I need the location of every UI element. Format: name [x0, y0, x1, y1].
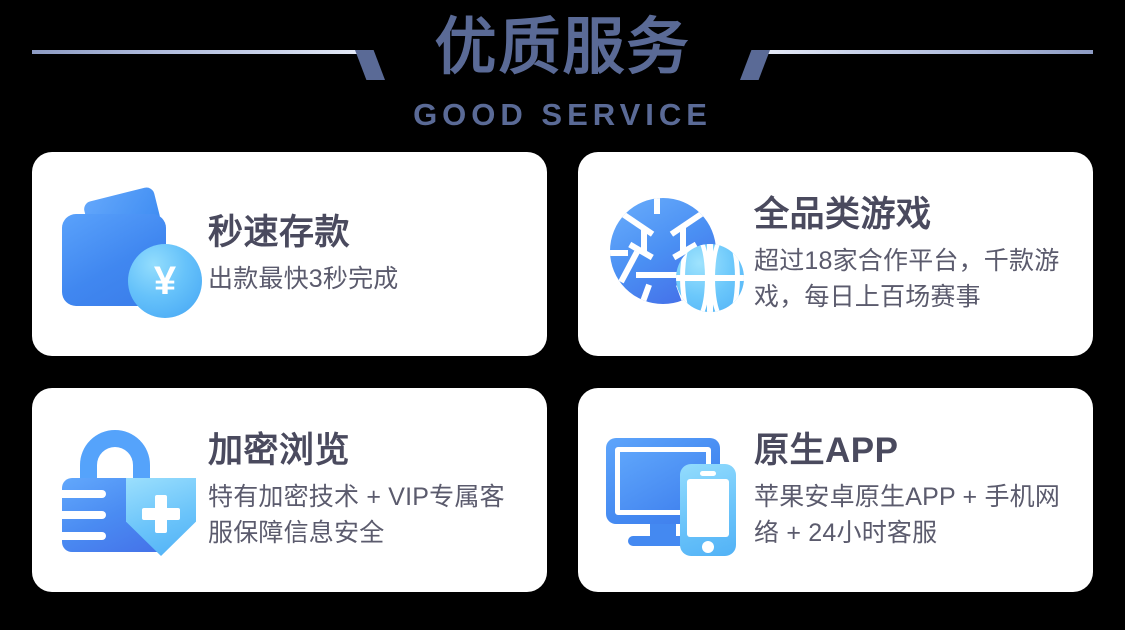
monitor-phone-icon [604, 424, 746, 556]
soccer-basketball-icon [604, 188, 746, 320]
feature-card-grid: ¥ 秒速存款 出款最快3秒完成 [32, 152, 1093, 592]
card-text-block: 秒速存款 出款最快3秒完成 [200, 211, 527, 297]
feature-card-instant-deposit[interactable]: ¥ 秒速存款 出款最快3秒完成 [32, 152, 547, 356]
card-title: 全品类游戏 [754, 193, 1073, 237]
wallet-icon: ¥ [58, 188, 200, 320]
header: 优质服务 GOOD SERVICE [0, 0, 1125, 150]
card-description: 出款最快3秒完成 [208, 261, 527, 297]
card-title: 加密浏览 [208, 429, 527, 473]
card-description: 超过18家合作平台，千款游戏，每日上百场赛事 [754, 243, 1073, 315]
yen-coin-icon: ¥ [128, 244, 202, 318]
card-text-block: 加密浏览 特有加密技术 + VIP专属客服保障信息安全 [200, 429, 527, 551]
phone-speaker-shape [700, 471, 716, 476]
card-text-block: 全品类游戏 超过18家合作平台，千款游戏，每日上百场赛事 [746, 193, 1073, 315]
page-title: 优质服务 [0, 8, 1125, 88]
card-text-block: 原生APP 苹果安卓原生APP + 手机网络 + 24小时客服 [746, 429, 1073, 551]
basketball-shape [676, 244, 744, 312]
phone-shape [680, 464, 736, 556]
plus-icon-vertical [155, 495, 167, 533]
card-description: 苹果安卓原生APP + 手机网络 + 24小时客服 [754, 479, 1073, 551]
feature-card-native-app[interactable]: 原生APP 苹果安卓原生APP + 手机网络 + 24小时客服 [578, 388, 1093, 592]
page-subtitle: GOOD SERVICE [0, 97, 1125, 133]
phone-home-button-icon [702, 541, 714, 553]
card-title: 原生APP [754, 429, 1073, 473]
card-description: 特有加密技术 + VIP专属客服保障信息安全 [208, 479, 527, 551]
phone-screen-shape [687, 479, 729, 537]
lock-shield-icon [58, 424, 200, 556]
feature-card-encrypted-browsing[interactable]: 加密浏览 特有加密技术 + VIP专属客服保障信息安全 [32, 388, 547, 592]
feature-card-all-games[interactable]: 全品类游戏 超过18家合作平台，千款游戏，每日上百场赛事 [578, 152, 1093, 356]
promo-banner: 优质服务 GOOD SERVICE ¥ 秒速存款 出款最快3秒完成 [0, 0, 1125, 630]
card-title: 秒速存款 [208, 211, 527, 255]
